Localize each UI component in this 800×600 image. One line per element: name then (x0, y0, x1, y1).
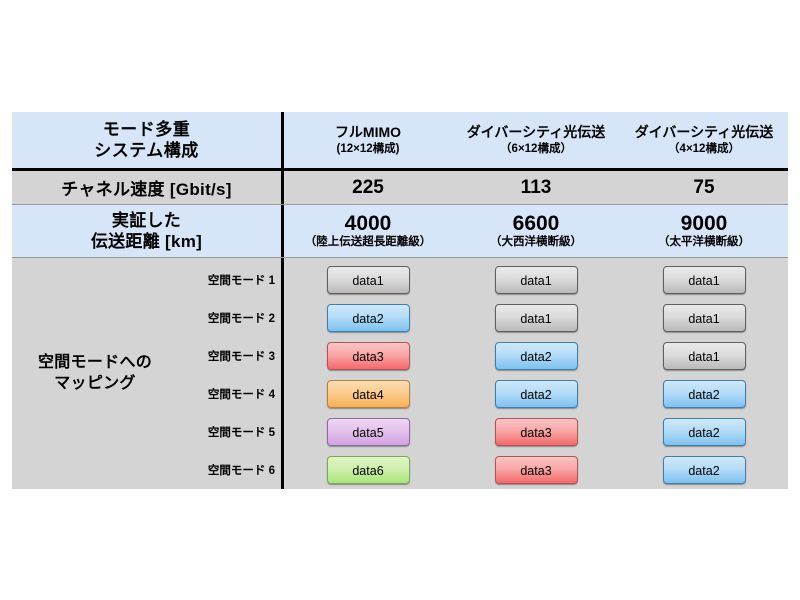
distance-label-line1: 実証した (91, 210, 202, 231)
mapping-slot: data2 (452, 375, 620, 413)
mapping-column-full-mimo: data1 data2 data3 data4 data5 data6 (284, 258, 452, 489)
data-block[interactable]: data1 (663, 266, 746, 294)
data-block[interactable]: data1 (495, 266, 578, 294)
data-block[interactable]: data2 (663, 418, 746, 446)
spatial-mode-label-5: 空間モード 5 (163, 413, 275, 451)
data-block[interactable]: data2 (327, 304, 410, 332)
spatial-mode-label-4: 空間モード 4 (163, 375, 275, 413)
mode-mapping-title: 空間モードへの マッピング (20, 258, 170, 489)
column-header-diversity-6x12: ダイバーシティ光伝送 （6×12構成） (452, 112, 620, 168)
data-block[interactable]: data1 (495, 304, 578, 332)
column-header-title: ダイバーシティ光伝送 (635, 124, 774, 141)
table-header-row: モード多重 システム構成 フルMIMO (12×12構成) ダイバーシティ光伝送… (12, 112, 788, 168)
mapping-slot: data1 (620, 337, 788, 375)
mapping-slot: data4 (284, 375, 452, 413)
mapping-slot: data1 (452, 261, 620, 299)
mapping-slot: data2 (620, 413, 788, 451)
channel-speed-label: チャネル速度 [Gbit/s] (12, 171, 281, 204)
mode-mapping-label-cell: 空間モードへの マッピング 空間モード 1 空間モード 2 空間モード 3 空間… (12, 258, 281, 489)
header-row-label-line2: システム構成 (94, 140, 199, 161)
spatial-mode-label-2: 空間モード 2 (163, 299, 275, 337)
data-block[interactable]: data3 (495, 456, 578, 484)
data-block[interactable]: data6 (327, 456, 410, 484)
mapping-column-diversity-6x12: data1 data1 data2 data2 data3 data3 (452, 258, 620, 489)
data-block[interactable]: data2 (663, 456, 746, 484)
data-block[interactable]: data1 (327, 266, 410, 294)
spatial-mode-label-1: 空間モード 1 (163, 261, 275, 299)
spatial-mode-label-6: 空間モード 6 (163, 451, 275, 489)
channel-speed-value-diversity-6x12: 113 (452, 171, 620, 204)
mapping-slot: data1 (620, 299, 788, 337)
comparison-table: モード多重 システム構成 フルMIMO (12×12構成) ダイバーシティ光伝送… (12, 112, 788, 488)
transmission-distance-row: 実証した 伝送距離 [km] 4000 （陸上伝送超長距離級） 6600 （大西… (12, 205, 788, 257)
mapping-slot: data3 (452, 413, 620, 451)
mapping-slot: data2 (620, 375, 788, 413)
data-block[interactable]: data2 (495, 380, 578, 408)
spatial-mode-label-3: 空間モード 3 (163, 337, 275, 375)
data-block[interactable]: data5 (327, 418, 410, 446)
column-header-subtitle: （4×12構成） (668, 142, 740, 156)
data-block[interactable]: data2 (663, 380, 746, 408)
channel-speed-value-diversity-4x12: 75 (620, 171, 788, 204)
column-header-diversity-4x12: ダイバーシティ光伝送 （4×12構成） (620, 112, 788, 168)
data-block[interactable]: data2 (495, 342, 578, 370)
spatial-mode-label-list: 空間モード 1 空間モード 2 空間モード 3 空間モード 4 空間モード 5 … (163, 258, 275, 489)
distance-label-line2: 伝送距離 [km] (91, 231, 202, 252)
mapping-slot: data3 (284, 337, 452, 375)
mapping-column-diversity-4x12: data1 data1 data1 data2 data2 data2 (620, 258, 788, 489)
data-block[interactable]: data4 (327, 380, 410, 408)
distance-value-full-mimo: 4000 （陸上伝送超長距離級） (284, 205, 452, 257)
mapping-slot: data2 (620, 451, 788, 489)
column-header-title: ダイバーシティ光伝送 (467, 124, 606, 141)
column-header-subtitle: (12×12構成) (337, 142, 400, 156)
mapping-title-line2: マッピング (38, 374, 152, 395)
mapping-slot: data3 (452, 451, 620, 489)
mapping-slot: data2 (284, 299, 452, 337)
distance-value-diversity-4x12: 9000 （太平洋横断級） (620, 205, 788, 257)
mapping-slot: data5 (284, 413, 452, 451)
column-header-full-mimo: フルMIMO (12×12構成) (284, 112, 452, 168)
data-block[interactable]: data3 (495, 418, 578, 446)
distance-value-diversity-6x12: 6600 （大西洋横断級） (452, 205, 620, 257)
mapping-title-line1: 空間モードへの (38, 353, 152, 374)
mapping-slot: data2 (452, 337, 620, 375)
column-header-subtitle: （6×12構成） (500, 142, 572, 156)
mapping-slot: data6 (284, 451, 452, 489)
channel-speed-row: チャネル速度 [Gbit/s] 225 113 75 (12, 171, 788, 204)
data-block[interactable]: data3 (327, 342, 410, 370)
data-block[interactable]: data1 (663, 342, 746, 370)
channel-speed-value-full-mimo: 225 (284, 171, 452, 204)
column-header-title: フルMIMO (335, 124, 401, 141)
mode-mapping-row: 空間モードへの マッピング 空間モード 1 空間モード 2 空間モード 3 空間… (12, 258, 788, 489)
header-row-label: モード多重 システム構成 (12, 112, 281, 168)
transmission-distance-label: 実証した 伝送距離 [km] (12, 205, 281, 257)
data-block[interactable]: data1 (663, 304, 746, 332)
header-row-label-line1: モード多重 (94, 119, 199, 140)
mapping-slot: data1 (284, 261, 452, 299)
mapping-slot: data1 (620, 261, 788, 299)
mapping-slot: data1 (452, 299, 620, 337)
